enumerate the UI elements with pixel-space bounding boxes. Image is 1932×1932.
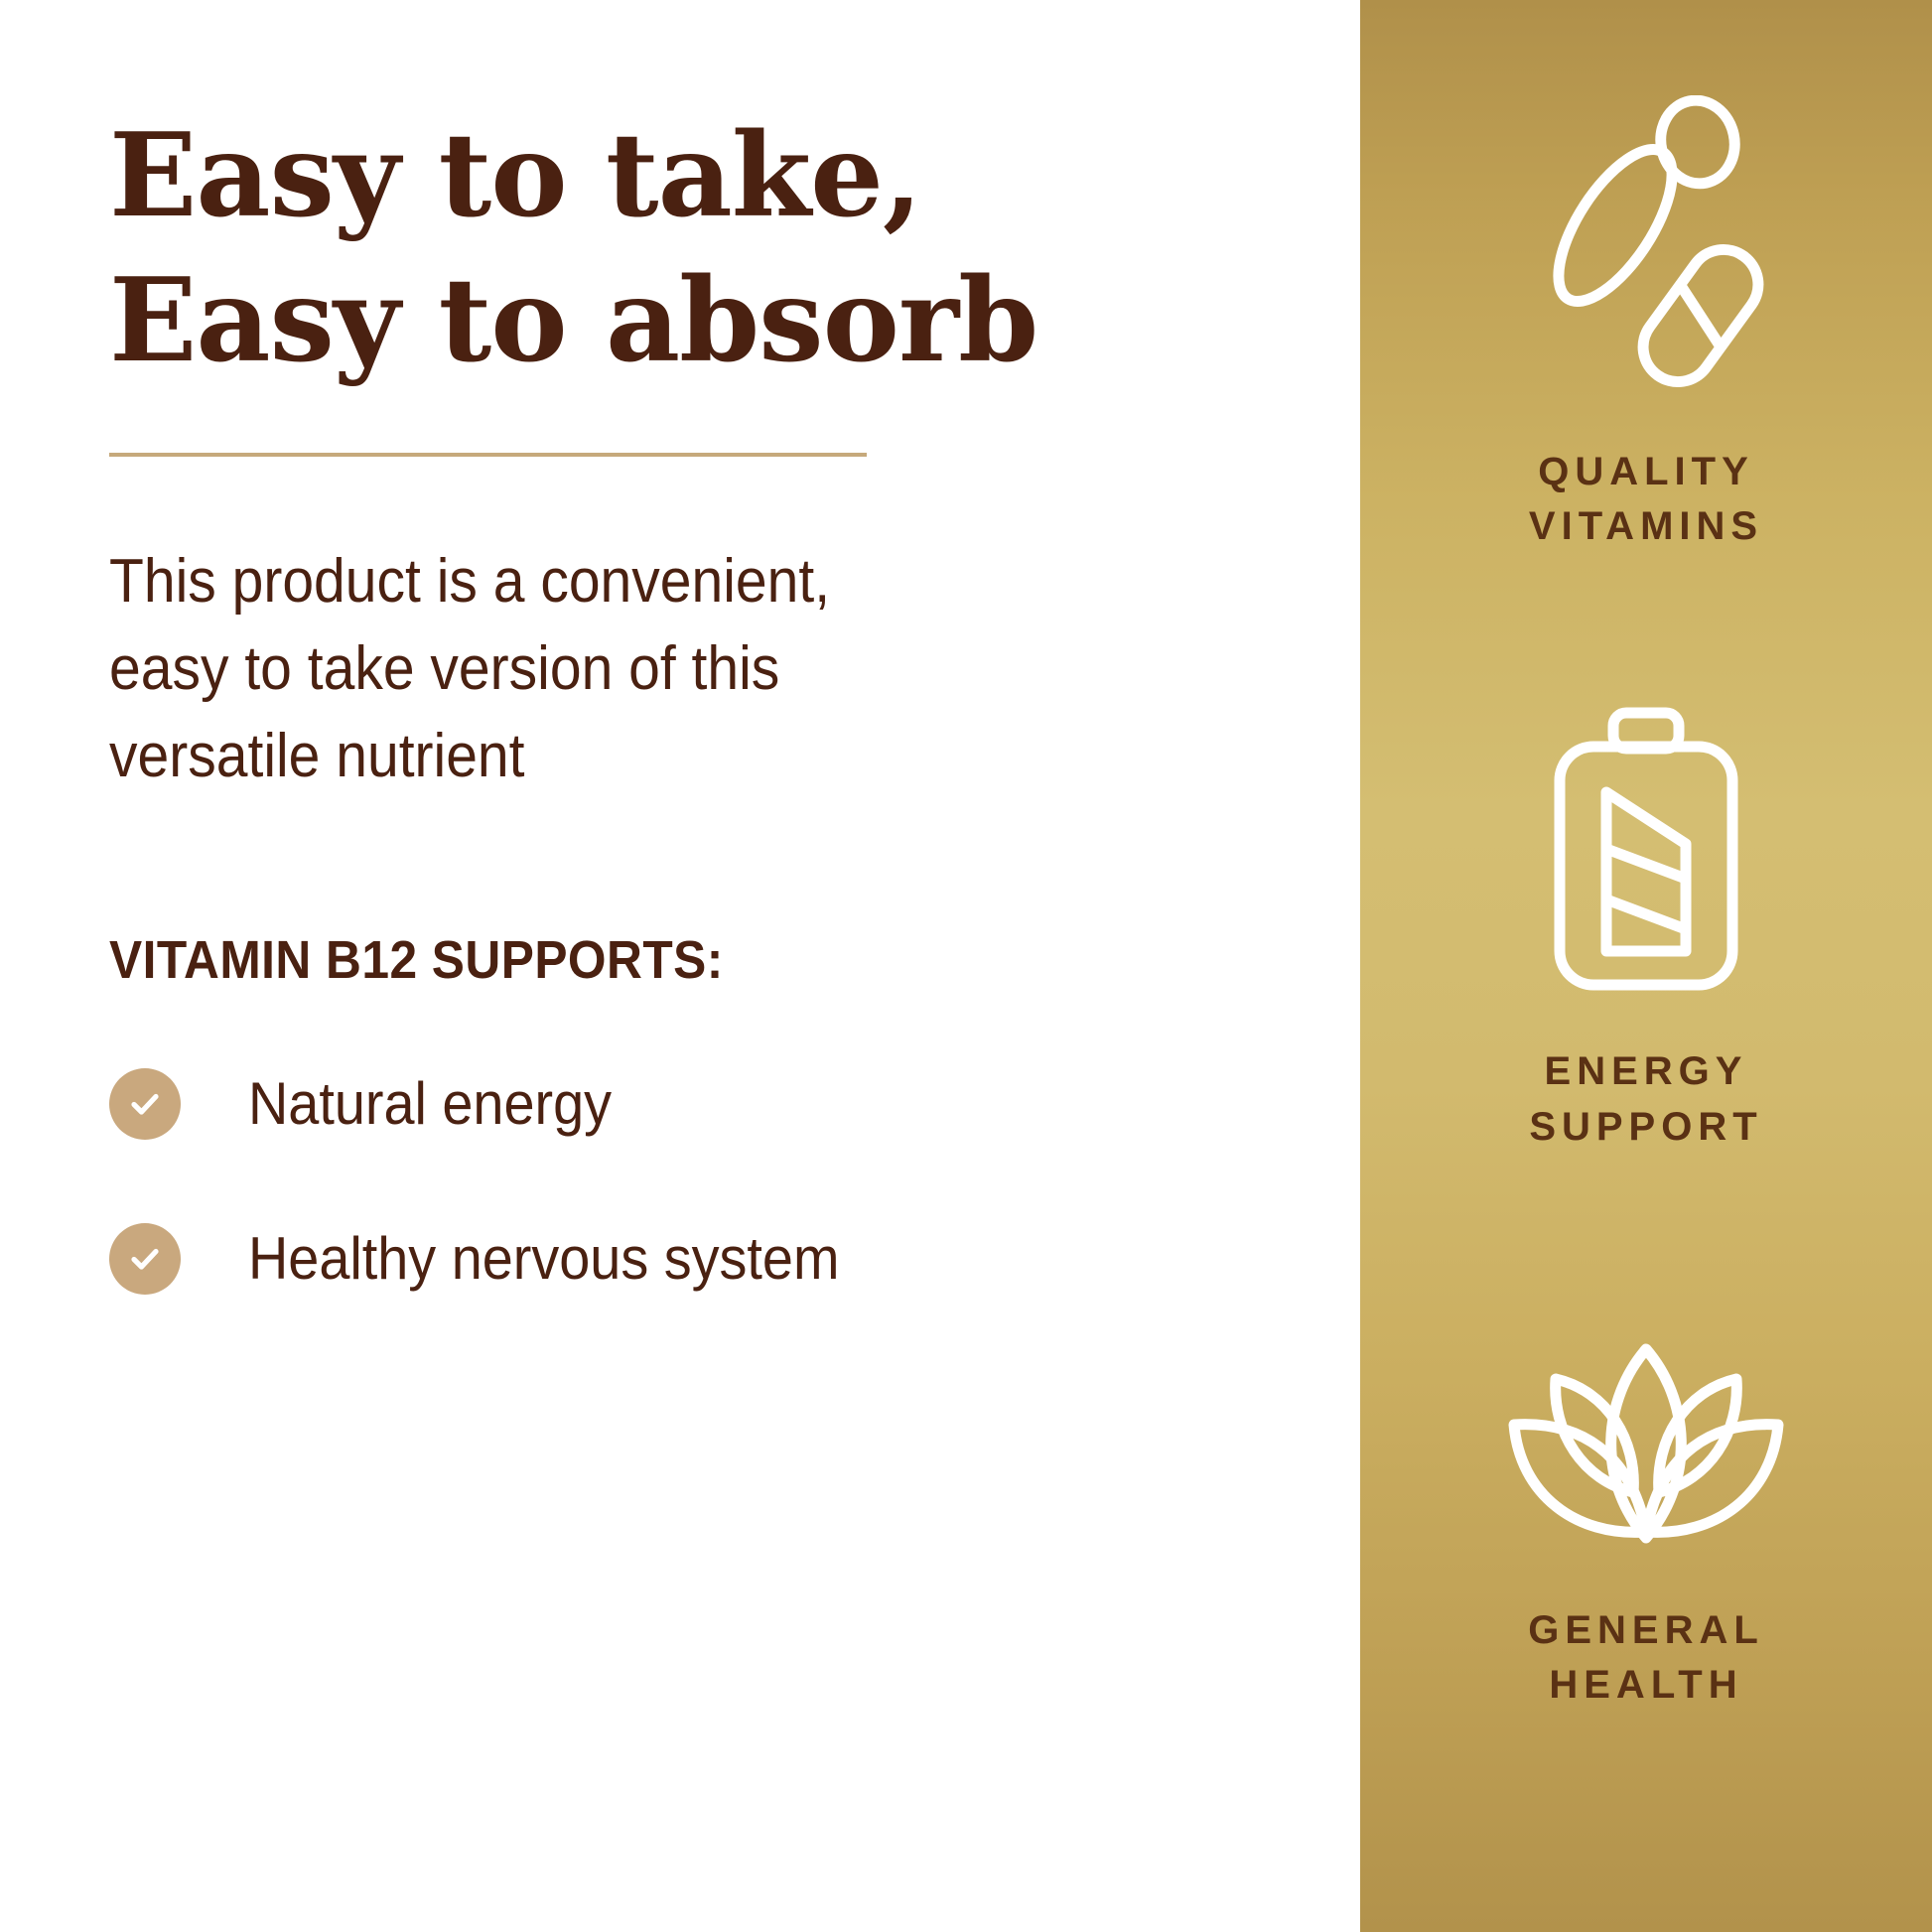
list-item-label: Healthy nervous system (248, 1229, 839, 1289)
feature-quality-vitamins: QUALITY VITAMINS (1360, 95, 1932, 554)
page-title: Easy to take, Easy to absorb (109, 103, 1162, 393)
supports-heading: VITAMIN B12 SUPPORTS: (109, 931, 1260, 990)
intro-line-2: easy to take version of this (109, 625, 868, 713)
intro-line-1: This product is a convenient, (109, 538, 868, 625)
feature-label-line-1: ENERGY (1529, 1044, 1762, 1099)
pills-icon (1512, 95, 1780, 393)
divider (109, 453, 867, 457)
list-item: Healthy nervous system (109, 1223, 1360, 1295)
check-icon (109, 1223, 181, 1295)
feature-energy-support: ENERGY SUPPORT (1360, 705, 1932, 1154)
promo-panel: Easy to take, Easy to absorb This produc… (0, 0, 1932, 1932)
intro-line-3: versatile nutrient (109, 713, 868, 800)
feature-sidebar: QUALITY VITAMINS (1360, 0, 1932, 1932)
feature-label-line-1: GENERAL (1528, 1603, 1764, 1658)
feature-label-line-2: SUPPORT (1529, 1100, 1762, 1155)
headline-line-1: Easy to take, (109, 103, 1162, 248)
benefit-list: Natural energy Healthy nervous system (109, 1068, 1360, 1295)
feature-general-health: GENERAL HEALTH (1360, 1333, 1932, 1713)
left-content-panel: Easy to take, Easy to absorb This produc… (0, 0, 1360, 1932)
feature-label: GENERAL HEALTH (1528, 1603, 1764, 1713)
list-item-label: Natural energy (248, 1074, 612, 1134)
check-icon (109, 1068, 181, 1140)
battery-icon (1532, 705, 1760, 993)
feature-label: ENERGY SUPPORT (1529, 1044, 1762, 1154)
feature-label-line-2: HEALTH (1528, 1658, 1764, 1713)
list-item: Natural energy (109, 1068, 1360, 1140)
feature-label-line-1: QUALITY (1529, 445, 1763, 499)
headline-line-2: Easy to absorb (109, 248, 1162, 393)
feature-label-line-2: VITAMINS (1529, 499, 1763, 554)
feature-label: QUALITY VITAMINS (1529, 445, 1763, 554)
lotus-icon (1502, 1333, 1790, 1552)
intro-paragraph: This product is a convenient, easy to ta… (109, 538, 868, 800)
